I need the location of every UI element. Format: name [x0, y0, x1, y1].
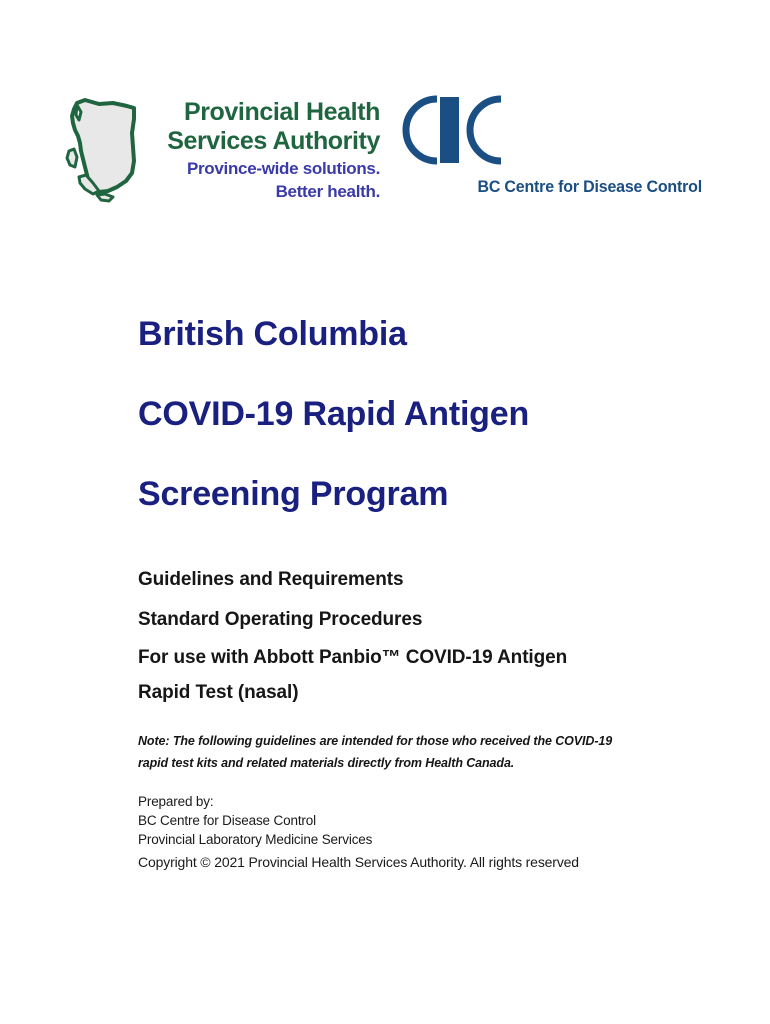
- phsa-wordmark-line-1: Provincial Health: [139, 98, 380, 127]
- prepared-by-block: Prepared by: BC Centre for Disease Contr…: [138, 792, 658, 872]
- bccdc-caption: BC Centre for Disease Control: [414, 176, 702, 197]
- page-title-line-2: COVID-19 Rapid Antigen: [138, 374, 698, 454]
- note-line-2: rapid test kits and related materials di…: [138, 752, 608, 774]
- phsa-logo: Provincial Health Services Authority Pro…: [55, 92, 380, 210]
- document-page: { "document": { "background_color": "#ff…: [0, 0, 770, 1024]
- page-subtitle: Guidelines and Requirements Standard Ope…: [138, 560, 698, 710]
- bc-province-map-icon: [55, 95, 147, 207]
- page-title: British Columbia COVID-19 Rapid Antigen …: [138, 294, 698, 534]
- logo-band: Provincial Health Services Authority Pro…: [0, 0, 770, 240]
- subtitle-product-line-1: For use with Abbott Panbio™ COVID-19 Ant…: [138, 640, 698, 675]
- prepared-by-division: Provincial Laboratory Medicine Services: [138, 830, 658, 849]
- subtitle-guidelines: Guidelines and Requirements: [138, 560, 698, 600]
- phsa-tagline-line-2: Better health.: [139, 181, 380, 202]
- cdc-monogram-icon: [396, 90, 514, 170]
- note-line-1: Note: The following guidelines are inten…: [138, 730, 608, 752]
- copyright-notice: Copyright © 2021 Provincial Health Servi…: [138, 853, 658, 872]
- phsa-tagline-line-1: Province-wide solutions.: [139, 158, 380, 179]
- note-block: Note: The following guidelines are inten…: [138, 730, 608, 774]
- subtitle-sop: Standard Operating Procedures: [138, 600, 698, 640]
- phsa-wordmark: Provincial Health Services Authority Pro…: [139, 98, 380, 202]
- page-title-line-1: British Columbia: [138, 294, 698, 374]
- prepared-by-label: Prepared by:: [138, 792, 658, 811]
- bccdc-logo: BC Centre for Disease Control: [396, 90, 706, 205]
- prepared-by-organization: BC Centre for Disease Control: [138, 811, 658, 830]
- phsa-wordmark-line-2: Services Authority: [139, 127, 380, 156]
- page-title-line-3: Screening Program: [138, 454, 698, 534]
- subtitle-product-line-2: Rapid Test (nasal): [138, 675, 698, 710]
